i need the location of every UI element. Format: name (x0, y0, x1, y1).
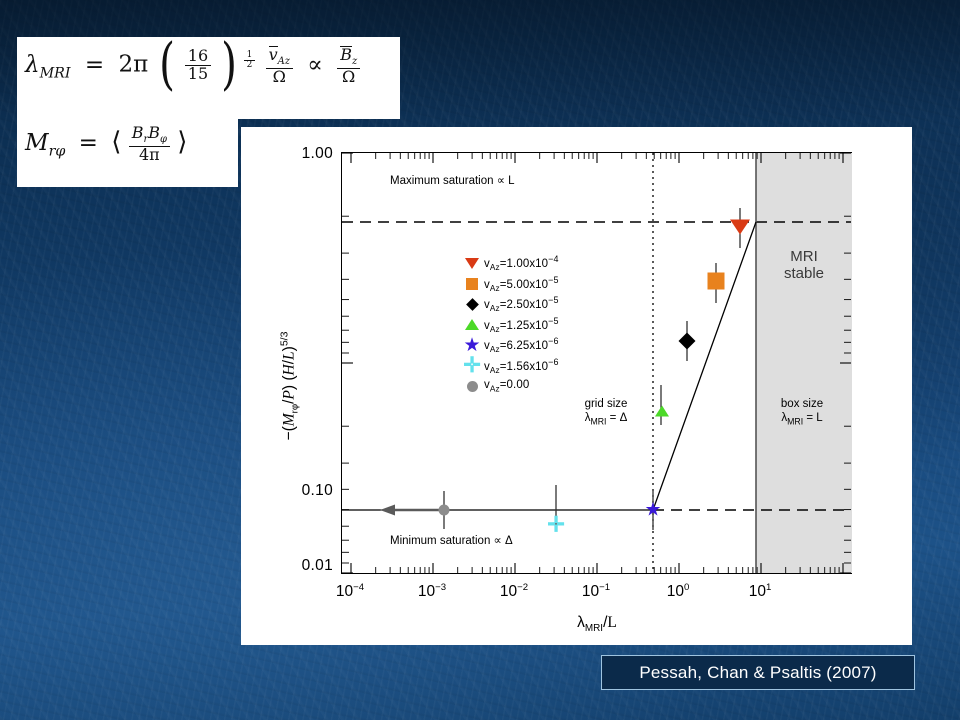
legend-label-2: vAz=2.50x10−5 (484, 295, 559, 313)
triangle-down-icon (462, 258, 482, 269)
data-point-vaz-1p56e-6: ✛ (547, 519, 565, 532)
eq1-exponent: 12 (240, 55, 258, 66)
triangle-up-icon (462, 319, 482, 330)
upper-limit-arrow (380, 505, 444, 516)
data-point-vaz-5p00e-5 (708, 273, 725, 290)
star-marker: ★ (644, 504, 661, 517)
legend-item-4: ★ vAz=6.25x10−6 (462, 335, 559, 356)
x-axis-ticks-top (351, 153, 843, 163)
eq1-close-paren: ) (222, 48, 238, 83)
legend-item-5: ✛ vAz=1.56x10−6 (462, 356, 559, 377)
eq1-coefficient: 2π (118, 52, 148, 78)
x-tick-label-1e-4: 10−4 (336, 582, 364, 601)
x-tick-label-1e-3: 10−3 (418, 582, 446, 601)
eq1-lhs: λMRI (25, 52, 71, 78)
data-point-vaz-0 (439, 505, 450, 516)
eq2-equals: = (79, 130, 98, 156)
square-icon (462, 278, 482, 290)
legend-item-3: vAz=1.25x10−5 (462, 315, 559, 336)
y-tick-label-1: 1.00 (285, 145, 333, 163)
figure-panel: −(Mrφ/P) (H/L)5/3 1.00 0.10 0.01 10−4 10… (241, 127, 912, 645)
slide-canvas: λMRI = 2π ( 16 15 ) 12 vAz Ω ∝ Bz Ω (0, 0, 960, 720)
diamond-icon (462, 300, 482, 309)
eq1-fraction-16-15: 16 15 (185, 48, 211, 83)
eq2-open-angle: ⟨ (111, 127, 121, 157)
x-axis-label: λMRI/L (577, 614, 617, 634)
x-axis-ticks (351, 563, 843, 573)
eq2-close-angle: ⟩ (177, 127, 187, 157)
y-tick-label-0p01: 0.01 (285, 557, 333, 575)
legend-item-1: vAz=5.00x10−5 (462, 274, 559, 295)
legend-label-1: vAz=5.00x10−5 (484, 275, 559, 293)
legend-item-0: vAz=1.00x10−4 (462, 253, 559, 274)
y-tick-label-0p10: 0.10 (285, 482, 333, 500)
legend-label-3: vAz=1.25x10−5 (484, 316, 559, 334)
x-tick-label-1e0: 100 (667, 582, 690, 601)
equation-stress-card: Mrφ = ⟨ BrBφ 4π ⟩ (17, 119, 238, 187)
cross-marker: ✛ (547, 519, 565, 532)
circle-marker (439, 505, 450, 516)
citation-box: Pessah, Chan & Psaltis (2007) (601, 655, 915, 690)
x-tick-label-1e1: 101 (749, 582, 772, 601)
legend-label-5: vAz=1.56x10−6 (484, 357, 559, 375)
data-point-vaz-1p25e-5 (655, 406, 669, 417)
diamond-marker (679, 333, 696, 350)
annotation-grid-size: grid size λMRI = Δ (585, 398, 628, 426)
equation-lambda-mri-card: λMRI = 2π ( 16 15 ) 12 vAz Ω ∝ Bz Ω (17, 37, 400, 119)
legend-item-6: vAz=0.00 (462, 376, 559, 397)
triangle-up-marker (655, 406, 669, 417)
eq1-proportional: ∝ (307, 52, 323, 78)
cross-icon: ✛ (462, 359, 482, 372)
square-marker (708, 273, 725, 290)
eq2-lhs: Mrφ (25, 130, 65, 156)
y-axis-label: −(Mrφ/P) (H/L)5/3 (278, 332, 300, 441)
trend-line (653, 222, 756, 510)
eq2-fraction: BrBφ 4π (129, 125, 170, 163)
x-tick-label-1e-1: 10−1 (582, 582, 610, 601)
annotation-max-saturation: Maximum saturation ∝ L (390, 175, 515, 189)
legend-label-0: vAz=1.00x10−4 (484, 254, 559, 272)
data-point-vaz-2p50e-5 (681, 335, 693, 347)
legend: vAz=1.00x10−4 vAz=5.00x10−5 vAz=2.50x10−… (462, 253, 559, 397)
legend-label-4: vAz=6.25x10−6 (484, 336, 559, 354)
legend-item-2: vAz=2.50x10−5 (462, 294, 559, 315)
legend-label-6: vAz=0.00 (484, 379, 529, 393)
star-icon: ★ (462, 339, 482, 352)
plot-svg (342, 153, 851, 573)
triangle-down-marker (730, 220, 750, 235)
data-point-vaz-6p25e-6: ★ (644, 504, 661, 517)
x-tick-label-1e-2: 10−2 (500, 582, 528, 601)
eq1-fraction-vaz-omega: vAz Ω (266, 46, 293, 85)
circle-icon (462, 381, 482, 392)
data-point-vaz-1p00e-4 (730, 220, 750, 235)
plot-area: ✛ ★ Maximum saturation ∝ L Minimum (341, 152, 852, 574)
citation-text: Pessah, Chan & Psaltis (2007) (639, 663, 876, 683)
eq1-equals: = (85, 52, 104, 78)
annotation-box-size: box size λMRI = L (781, 398, 823, 426)
annotation-mri-stable: MRI stable (784, 248, 824, 283)
eq1-fraction-bz-omega: Bz Ω (337, 46, 360, 85)
eq1-open-paren: ( (159, 48, 175, 83)
annotation-min-saturation: Minimum saturation ∝ Δ (390, 535, 513, 549)
